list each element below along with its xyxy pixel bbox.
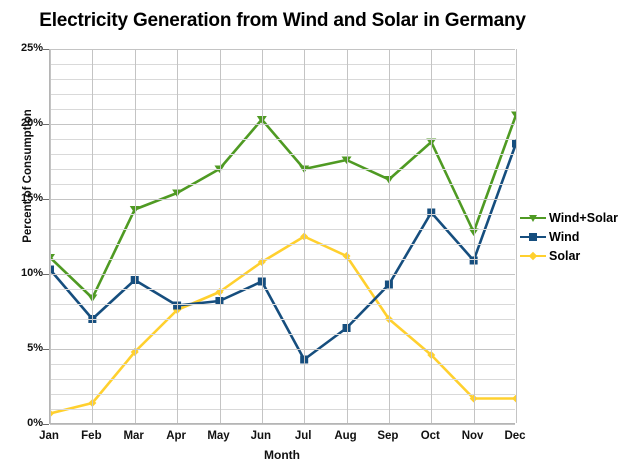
gridline-horizontal [50, 424, 515, 425]
gridline-horizontal [50, 214, 515, 215]
gridline-horizontal [50, 334, 515, 335]
series-layer [50, 49, 516, 424]
series-line [50, 115, 516, 298]
x-axis-tick-label: Aug [323, 430, 369, 442]
gridline-vertical [474, 49, 475, 423]
gridline-vertical [516, 49, 517, 423]
gridline-horizontal [50, 364, 515, 365]
gridline-vertical [304, 49, 305, 423]
gridline-horizontal [50, 304, 515, 305]
chart-title: Electricity Generation from Wind and Sol… [0, 10, 565, 32]
legend-swatch-icon [520, 231, 546, 243]
gridline-vertical [347, 49, 348, 423]
chart-legend: Wind+SolarWindSolar [520, 208, 620, 265]
gridline-horizontal [50, 139, 515, 140]
gridline-horizontal [50, 409, 515, 410]
gridline-vertical [177, 49, 178, 423]
y-axis-tick-mark [43, 424, 49, 425]
chart-container: Electricity Generation from Wind and Sol… [0, 0, 623, 467]
gridline-horizontal [50, 289, 515, 290]
gridline-vertical [262, 49, 263, 423]
gridline-horizontal [50, 109, 515, 110]
gridline-horizontal [50, 64, 515, 65]
plot-area [49, 49, 515, 424]
y-axis-title: Percent of Consumption [22, 56, 34, 296]
x-axis-tick-label: May [196, 430, 242, 442]
legend-swatch-icon [520, 250, 546, 262]
x-axis-tick-label: Sep [365, 430, 411, 442]
gridline-horizontal [50, 79, 515, 80]
x-axis-tick-label: Jan [26, 430, 72, 442]
gridline-horizontal [50, 229, 515, 230]
legend-marker-icon [529, 215, 537, 222]
x-axis-tick-label: Jun [238, 430, 284, 442]
gridline-horizontal [50, 259, 515, 260]
gridline-vertical [220, 49, 221, 423]
gridline-horizontal [50, 169, 515, 170]
x-axis-tick-label: Mar [111, 430, 157, 442]
y-axis-tick-label: 0% [3, 417, 43, 429]
gridline-horizontal [50, 274, 515, 275]
x-axis-tick-label: Jul [280, 430, 326, 442]
gridline-vertical [431, 49, 432, 423]
gridline-vertical [92, 49, 93, 423]
x-axis-tick-label: Nov [450, 430, 496, 442]
x-axis-tick-label: Apr [153, 430, 199, 442]
gridline-vertical [50, 49, 51, 423]
legend-swatch-icon [520, 212, 546, 224]
y-axis-tick-label: 20% [3, 117, 43, 129]
gridline-horizontal [50, 394, 515, 395]
gridline-horizontal [50, 94, 515, 95]
x-axis-title: Month [49, 448, 515, 462]
y-axis-tick-label: 25% [3, 42, 43, 54]
gridline-horizontal [50, 154, 515, 155]
legend-item-wind[interactable]: Wind [520, 227, 620, 246]
x-axis-tick-label: Dec [492, 430, 538, 442]
y-axis-tick-label: 10% [3, 267, 43, 279]
gridline-horizontal [50, 349, 515, 350]
legend-label: Wind [549, 230, 579, 244]
gridline-horizontal [50, 49, 515, 50]
legend-label: Solar [549, 249, 580, 263]
gridline-vertical [389, 49, 390, 423]
legend-marker-icon [529, 251, 537, 259]
gridline-horizontal [50, 184, 515, 185]
gridline-horizontal [50, 379, 515, 380]
legend-item-wind-plus-solar[interactable]: Wind+Solar [520, 208, 620, 227]
y-axis-tick-label: 5% [3, 342, 43, 354]
x-axis-tick-label: Oct [407, 430, 453, 442]
legend-label: Wind+Solar [549, 211, 618, 225]
gridline-horizontal [50, 319, 515, 320]
series-solar [50, 233, 516, 418]
legend-marker-icon [529, 233, 537, 241]
legend-item-solar[interactable]: Solar [520, 246, 620, 265]
gridline-horizontal [50, 124, 515, 125]
gridline-horizontal [50, 199, 515, 200]
series-line [50, 237, 516, 414]
gridline-vertical [135, 49, 136, 423]
gridline-horizontal [50, 244, 515, 245]
y-axis-tick-label: 15% [3, 192, 43, 204]
x-axis-tick-label: Feb [68, 430, 114, 442]
